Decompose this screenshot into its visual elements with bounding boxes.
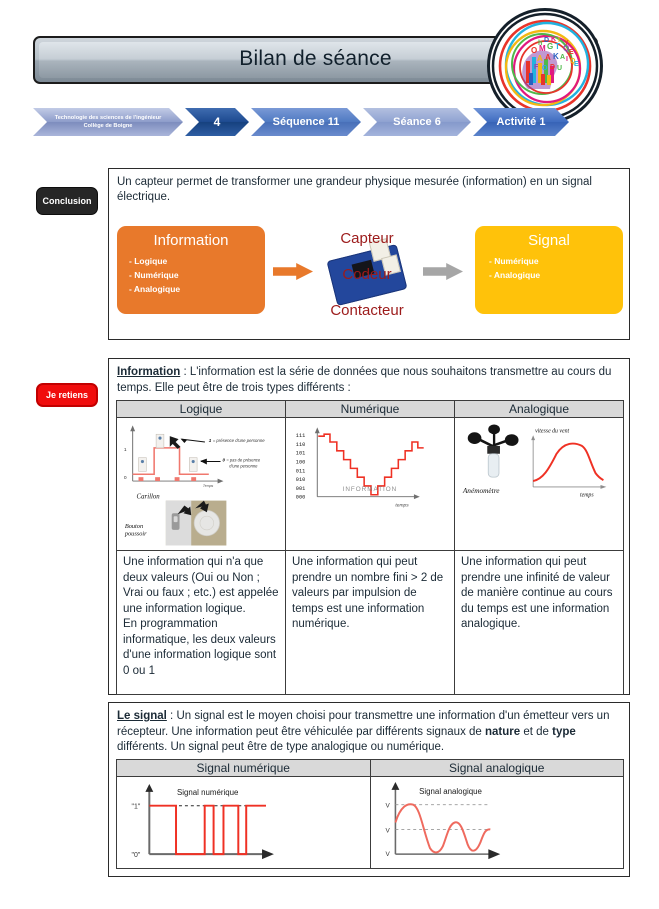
signal-section: Le signal : Un signal est le moyen chois… (108, 702, 630, 877)
signal-term: Le signal (117, 710, 167, 722)
information-definition-text: : L'information est la série de données … (117, 366, 611, 394)
signal-box-title: Signal (475, 232, 623, 249)
information-box-item: - Logique (117, 254, 265, 268)
svg-text:0: 0 (222, 458, 225, 463)
svg-text:= présence d'une personne: = présence d'une personne (213, 438, 265, 443)
signal-bold-type: type (552, 726, 576, 738)
svg-text:INFORMATION: INFORMATION (343, 486, 398, 493)
figure-cell-signal-analogique: V V V Signal analogique (370, 777, 624, 869)
information-box: Information - Logique - Numérique - Anal… (117, 226, 265, 314)
school-logo-icon: h D K I Y O M G T Q E A A K A I Q (487, 8, 603, 124)
table-figure-row: 1 0 Temps (117, 418, 624, 551)
breadcrumb-school-line1: Technologie des sciences de l'ingénieur (55, 114, 162, 122)
page-header: Bilan de séance (0, 0, 659, 100)
figure-cell-analogique: Anémomètre vitesse du vent temps (455, 418, 624, 551)
svg-text:V: V (385, 851, 390, 858)
svg-text:A: A (560, 54, 565, 61)
svg-text:Carillon: Carillon (137, 494, 161, 501)
table-description-row: Une information qui n'a que deux valeurs… (117, 551, 624, 695)
figure-cell-numerique: 111110 101100 011010 001000 INFORMATION … (286, 418, 455, 551)
svg-text:0: 0 (124, 475, 127, 481)
information-types-table: Logique Numérique Analogique 1 (116, 400, 624, 695)
conclusion-flow-diagram: Information - Logique - Numérique - Anal… (117, 226, 623, 331)
column-header-analogique: Analogique (455, 401, 624, 418)
description-cell-logique: Une information qui n'a que deux valeurs… (117, 551, 286, 695)
document-page: Bilan de séance (0, 0, 659, 909)
svg-text:O: O (542, 65, 548, 72)
svg-text:A: A (537, 54, 543, 63)
signal-types-table: Signal numérique Signal analogique (116, 759, 624, 869)
je-retiens-badge: Je retiens (36, 383, 98, 407)
information-term: Information (117, 366, 180, 378)
svg-text:U: U (557, 65, 562, 72)
breadcrumb-item-sequence[interactable]: Séquence 11 (251, 108, 361, 136)
svg-text:010: 010 (296, 477, 305, 483)
svg-text:T: T (555, 42, 560, 51)
svg-text:001: 001 (296, 486, 305, 492)
svg-text:000: 000 (296, 495, 305, 501)
table-figure-row: "1" "0" Signal numérique (117, 777, 624, 869)
signal-definition-part3: différents. Un signal peut être de type … (117, 741, 444, 753)
conclusion-section: Un capteur permet de transformer une gra… (108, 168, 630, 340)
center-label-codeur: Codeur (313, 266, 421, 283)
svg-text:D: D (550, 64, 555, 71)
signal-definition-part2: et de (520, 726, 552, 738)
svg-text:A: A (545, 53, 551, 62)
svg-text:Signal numérique: Signal numérique (177, 788, 239, 797)
information-box-title: Information (117, 232, 265, 249)
column-header-logique: Logique (117, 401, 286, 418)
signal-box-item: - Numérique (475, 254, 623, 268)
information-box-item: - Analogique (117, 282, 265, 296)
svg-text:= pas de présence: = pas de présence (226, 458, 261, 463)
description-cell-numerique: Une information qui peut prendre un nomb… (286, 551, 455, 695)
center-label-capteur: Capteur (313, 230, 421, 247)
signal-box-item: - Analogique (475, 268, 623, 282)
column-header-signal-analogique: Signal analogique (370, 760, 624, 777)
information-box-item: - Numérique (117, 268, 265, 282)
center-label-contacteur: Contacteur (313, 302, 421, 319)
arrow-right-icon (273, 256, 313, 286)
svg-text:Anémomètre: Anémomètre (462, 486, 500, 495)
conclusion-text: Un capteur permet de transformer une gra… (117, 175, 621, 205)
svg-text:V: V (385, 803, 390, 810)
svg-text:temps: temps (395, 502, 409, 508)
sensor-module-image: Capteur Codeur Contacteur (313, 224, 421, 328)
column-header-numerique: Numérique (286, 401, 455, 418)
svg-text:temps: temps (580, 493, 594, 499)
breadcrumb-school-line2: Collège de Boigne (84, 122, 133, 130)
information-definition: Information : L'information est la série… (117, 365, 621, 396)
breadcrumb-item-level[interactable]: 4 (185, 108, 249, 136)
table-header-row: Signal numérique Signal analogique (117, 760, 624, 777)
svg-text:E: E (574, 61, 579, 68)
signal-bold-nature: nature (485, 726, 520, 738)
svg-text:011: 011 (296, 468, 305, 474)
svg-text:Signal analogique: Signal analogique (419, 787, 482, 796)
svg-text:I: I (566, 56, 568, 63)
conclusion-badge: Conclusion (36, 187, 98, 215)
je-retiens-section: Information : L'information est la série… (108, 358, 630, 695)
breadcrumb-item-activite[interactable]: Activité 1 (473, 108, 569, 136)
svg-text:G: G (547, 42, 553, 51)
svg-text:d'une personne: d'une personne (229, 463, 258, 468)
breadcrumb-item-school[interactable]: Technologie des sciences de l'ingénieur … (33, 108, 183, 136)
column-header-signal-numerique: Signal numérique (117, 760, 371, 777)
breadcrumb-item-seance[interactable]: Séance 6 (363, 108, 471, 136)
svg-text:Temps: Temps (203, 484, 214, 488)
signal-definition: Le signal : Un signal est le moyen chois… (117, 709, 621, 756)
svg-text:"1": "1" (132, 804, 141, 811)
arrow-right-icon (423, 256, 463, 286)
svg-text:Bouton: Bouton (125, 523, 143, 530)
svg-text:111: 111 (296, 433, 305, 439)
signal-box: Signal - Numérique - Analogique (475, 226, 623, 314)
svg-text:"0": "0" (132, 852, 141, 859)
svg-text:V: V (385, 827, 390, 834)
svg-text:M: M (539, 44, 546, 53)
svg-text:110: 110 (296, 442, 305, 448)
svg-text:100: 100 (296, 460, 305, 466)
table-header-row: Logique Numérique Analogique (117, 401, 624, 418)
svg-text:poussoir: poussoir (124, 531, 147, 538)
description-cell-analogique: Une information qui peut prendre une inf… (455, 551, 624, 695)
figure-cell-logique: 1 0 Temps (117, 418, 286, 551)
svg-text:101: 101 (296, 451, 305, 457)
svg-text:vitesse du vent: vitesse du vent (535, 428, 569, 434)
svg-text:K: K (553, 52, 559, 61)
svg-text:F: F (534, 64, 539, 71)
figure-cell-signal-numerique: "1" "0" Signal numérique (117, 777, 371, 869)
svg-text:1: 1 (124, 447, 127, 453)
anemometer-drawing (468, 424, 519, 477)
svg-text:E: E (569, 49, 574, 56)
svg-text:1: 1 (209, 438, 212, 443)
